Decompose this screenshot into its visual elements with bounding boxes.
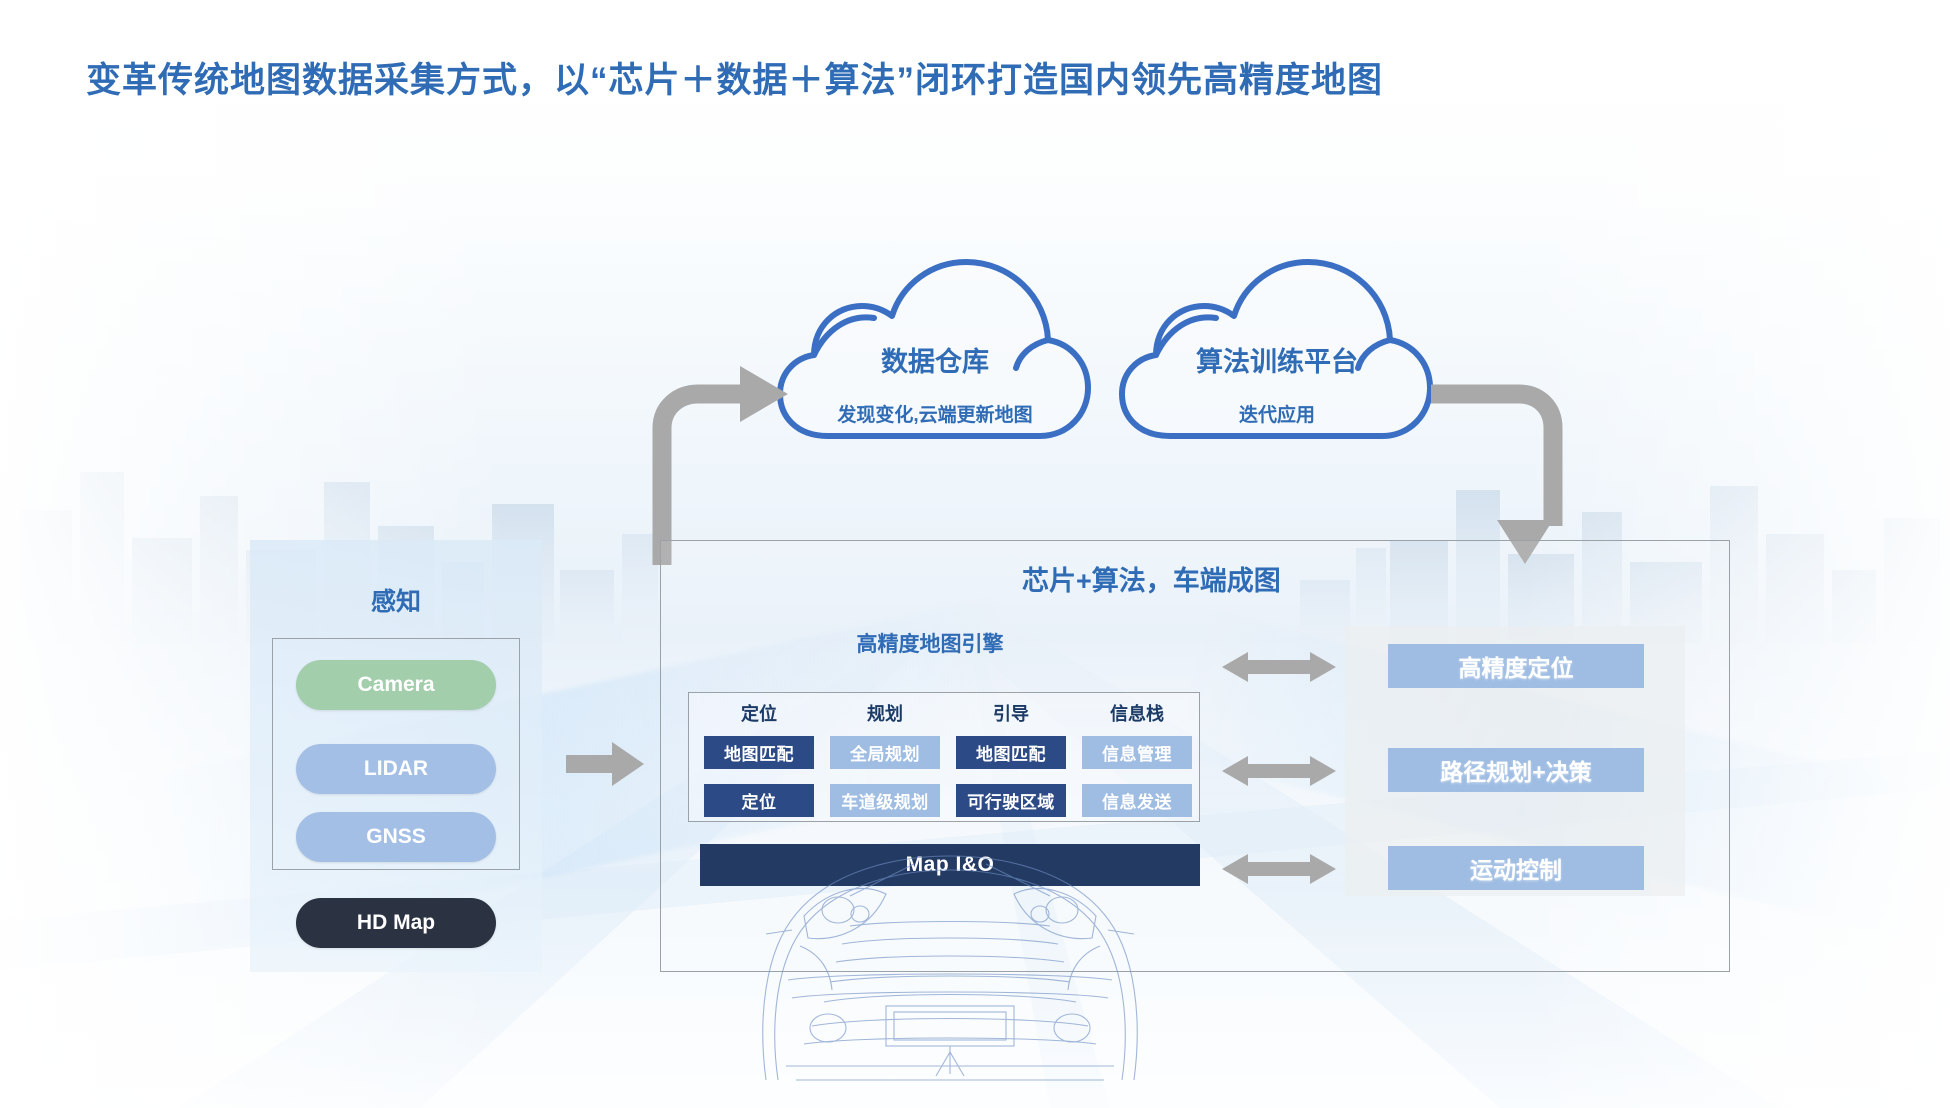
- output-button-motion-control[interactable]: 运动控制: [1388, 846, 1644, 890]
- cloud-algorithm-training[interactable]: 算法训练平台 迭代应用: [1112, 248, 1442, 448]
- engine-heading: 高精度地图引擎: [660, 628, 1200, 658]
- car-front-wireframe-icon: [700, 830, 1200, 1108]
- grid-cell-1-2[interactable]: 可行驶区域: [956, 784, 1066, 817]
- output-button-localization[interactable]: 高精度定位: [1388, 644, 1644, 688]
- curved-arrow-up-right-icon: [640, 350, 800, 565]
- cloud-subtitle: 迭代应用: [1112, 400, 1442, 427]
- cloud-data-warehouse[interactable]: 数据仓库 发现变化,云端更新地图: [770, 248, 1100, 448]
- grid-header-3: 信息栈: [1078, 700, 1196, 726]
- grid-cell-0-1[interactable]: 全局规划: [830, 736, 940, 769]
- cloud-title: 算法训练平台: [1112, 340, 1442, 379]
- curved-arrow-down-icon: [1415, 350, 1575, 565]
- double-headed-arrow-icon: [1222, 852, 1336, 886]
- sensor-label: LIDAR: [364, 757, 428, 781]
- sensor-pill-gnss[interactable]: GNSS: [296, 812, 496, 862]
- sensor-pill-camera[interactable]: Camera: [296, 660, 496, 710]
- grid-cell-1-0[interactable]: 定位: [704, 784, 814, 817]
- grid-cell-1-3[interactable]: 信息发送: [1082, 784, 1192, 817]
- hd-map-label: HD Map: [357, 911, 435, 935]
- arrow-right-icon: [566, 740, 646, 788]
- output-label: 高精度定位: [1459, 649, 1574, 683]
- cloud-subtitle: 发现变化,云端更新地图: [770, 400, 1100, 427]
- double-headed-arrow-icon: [1222, 754, 1336, 788]
- sensor-pill-lidar[interactable]: LIDAR: [296, 744, 496, 794]
- grid-cell-0-0[interactable]: 地图匹配: [704, 736, 814, 769]
- grid-header-0: 定位: [700, 700, 818, 726]
- grid-cell-0-3[interactable]: 信息管理: [1082, 736, 1192, 769]
- output-button-planning-decision[interactable]: 路径规划+决策: [1388, 748, 1644, 792]
- page-title: 变革传统地图数据采集方式，以“芯片＋数据＋算法”闭环打造国内领先高精度地图: [86, 52, 1383, 103]
- sensor-label: GNSS: [366, 825, 426, 849]
- sensor-label: Camera: [357, 673, 434, 697]
- grid-header-1: 规划: [826, 700, 944, 726]
- double-headed-arrow-icon: [1222, 650, 1336, 684]
- cloud-title: 数据仓库: [770, 340, 1100, 379]
- perception-heading: 感知: [250, 582, 542, 618]
- output-label: 运动控制: [1470, 851, 1562, 885]
- grid-cell-1-1[interactable]: 车道级规划: [830, 784, 940, 817]
- grid-cell-0-2[interactable]: 地图匹配: [956, 736, 1066, 769]
- grid-header-2: 引导: [952, 700, 1070, 726]
- hd-map-pill[interactable]: HD Map: [296, 898, 496, 948]
- output-label: 路径规划+决策: [1440, 753, 1591, 787]
- main-heading: 芯片+算法，车端成图: [1022, 559, 1281, 598]
